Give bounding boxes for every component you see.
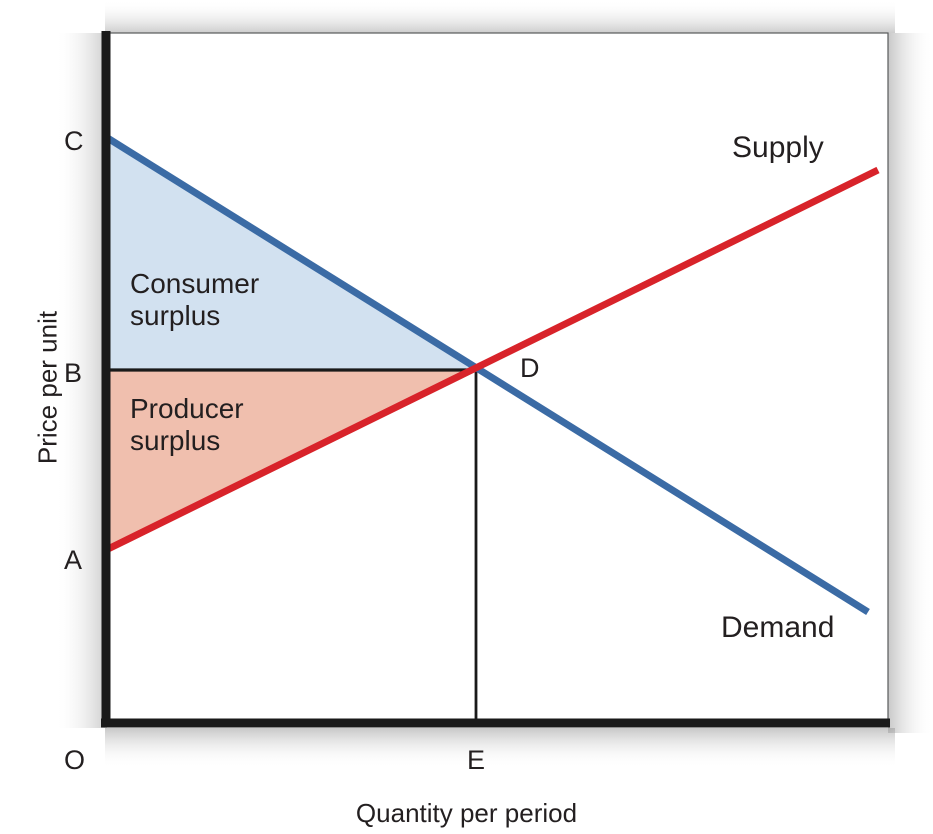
panel-shadow-bottom bbox=[105, 728, 895, 768]
panel-shadow-top bbox=[105, 0, 895, 33]
point-label-e: E bbox=[467, 745, 485, 776]
point-label-o: O bbox=[64, 745, 85, 776]
y-axis-title: Price per unit bbox=[33, 278, 64, 498]
consumer-surplus-label: Consumer surplus bbox=[130, 268, 259, 333]
point-label-a: A bbox=[64, 545, 82, 576]
point-label-c: C bbox=[64, 126, 84, 157]
point-label-d: D bbox=[520, 353, 540, 384]
x-axis-title: Quantity per period bbox=[0, 798, 933, 829]
point-label-b: B bbox=[64, 358, 82, 389]
panel-shadow-right bbox=[888, 33, 933, 733]
supply-demand-surplus-figure: Quantity per period Price per unit C B A… bbox=[0, 0, 933, 834]
demand-curve-label: Demand bbox=[721, 611, 834, 645]
supply-curve-label: Supply bbox=[732, 131, 824, 165]
producer-surplus-label: Producer surplus bbox=[130, 393, 244, 458]
